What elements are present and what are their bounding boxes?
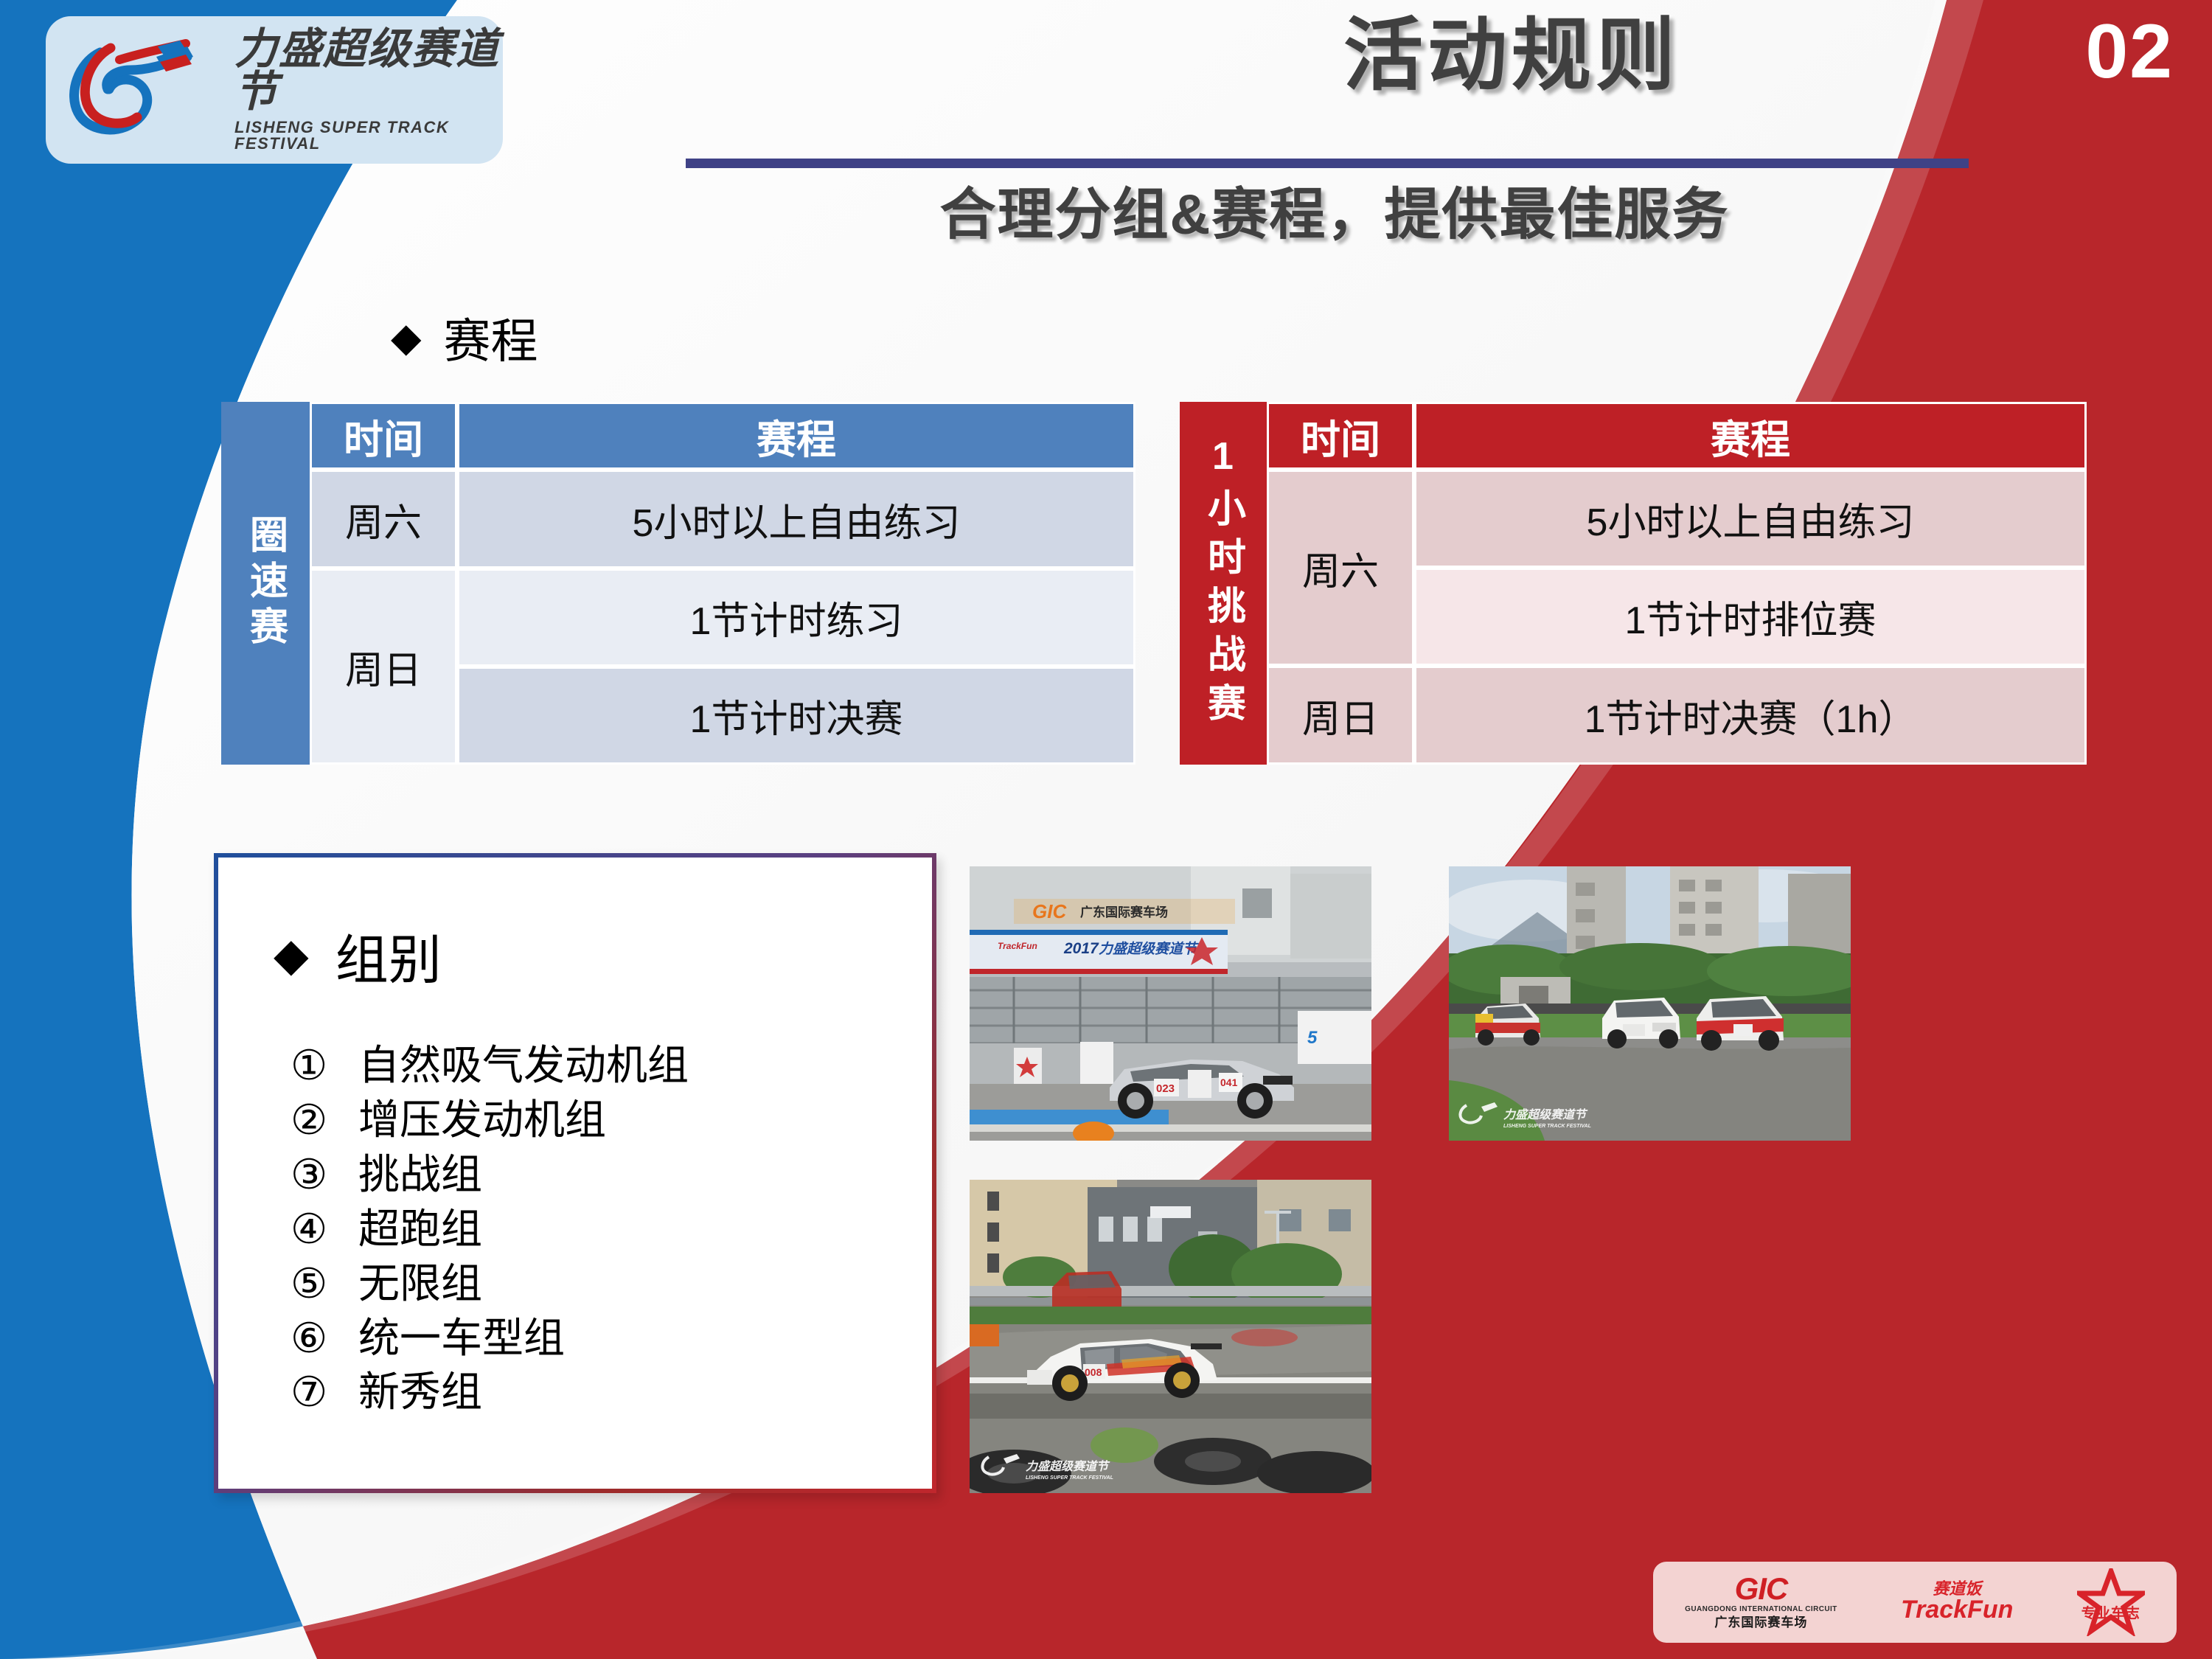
svg-text:008: 008 (1085, 1366, 1102, 1378)
list-item-number: ① (291, 1038, 358, 1093)
table-row: 周日 1节计时决赛（1h） (1267, 666, 2087, 765)
list-item-number: ⑤ (291, 1256, 358, 1311)
cell-schedule: 1节计时排位赛 (1414, 568, 2087, 666)
list-item: ⑦ 新秀组 (291, 1365, 910, 1419)
svg-text:041: 041 (1220, 1077, 1238, 1088)
page-title: 活动规则 (1246, 13, 1777, 97)
diamond-bullet-icon: ◆ (274, 933, 309, 978)
groups-heading-label: 组别 (335, 917, 442, 994)
photo-bmw-on-pitstraight: GIC 广东国际赛车场 2017 力盛超级赛道节 TrackFun (970, 866, 1371, 1141)
list-item-label: 挑战组 (358, 1147, 482, 1202)
table-row: 周日 1节计时练习 1节计时决赛 (310, 568, 1135, 765)
list-item: ⑥ 统一车型组 (291, 1311, 910, 1366)
schedule-section-heading: ◆ 赛程 (391, 304, 538, 372)
sponsor-gic-name-cn: 广东国际赛车场 (1714, 1615, 1807, 1631)
groups-list: ① 自然吸气发动机组 ② 增压发动机组 ③ 挑战组 ④ 超跑组 ⑤ 无限组 ⑥ … (291, 1038, 910, 1419)
lisheng-track-mark-icon (62, 27, 232, 153)
schedule-heading-label: 赛程 (444, 304, 538, 372)
sponsor-gic: GIC GUANGDONG INTERNATIONAL CIRCUIT 广东国际… (1685, 1573, 1837, 1631)
svg-text:力盛超级赛道节: 力盛超级赛道节 (1099, 941, 1199, 957)
table-row: 周六 5小时以上自由练习 1节计时排位赛 (1267, 470, 2087, 666)
sponsor-trackfun: 赛道饭 TrackFun (1901, 1581, 2013, 1624)
svg-text:TrackFun: TrackFun (998, 941, 1037, 951)
logo-name-en: LISHENG SUPER TRACK FESTIVAL (234, 119, 503, 152)
list-item: ① 自然吸气发动机组 (291, 1038, 910, 1093)
brand-logo: 力盛超级赛道节 LISHENG SUPER TRACK FESTIVAL (46, 16, 503, 164)
svg-text:力盛超级赛道节: 力盛超级赛道节 (1026, 1460, 1110, 1473)
table-header-row: 时间 赛程 (1267, 402, 2087, 470)
page-number: 02 (2085, 13, 2174, 90)
cell-schedule: 1节计时决赛 (457, 667, 1135, 765)
cell-schedule: 5小时以上自由练习 (1414, 470, 2087, 568)
cell-schedule: 1节计时练习 (457, 568, 1135, 667)
column-header-time: 时间 (1267, 402, 1414, 470)
one-hour-challenge-side-label: 1小时挑战赛 (1180, 402, 1267, 765)
list-item-number: ③ (291, 1147, 358, 1202)
photo-three-hatchbacks-on-track: 力盛超级赛道节 LISHENG SUPER TRACK FESTIVAL (1449, 866, 1851, 1141)
table-header-row: 时间 赛程 (310, 402, 1135, 470)
svg-text:GIC: GIC (1032, 900, 1067, 922)
sponsor-zhuanye-chezhi: 专业车志 (2077, 1568, 2145, 1636)
list-item-label: 超跑组 (358, 1202, 482, 1256)
list-item-number: ⑦ (291, 1365, 358, 1419)
list-item-number: ② (291, 1093, 358, 1147)
list-item-label: 统一车型组 (358, 1311, 565, 1366)
sponsor-trackfun-name-en: TrackFun (1901, 1597, 2013, 1624)
photo-white-sedan-cornering: 008 力盛超级赛道节 LISHENG SUPER TRACK FESTIVAL (970, 1180, 1371, 1493)
column-header-time: 时间 (310, 402, 457, 470)
logo-name-cn: 力盛超级赛道节 (234, 28, 503, 114)
one-hour-challenge-table-body: 时间 赛程 周六 5小时以上自由练习 1节计时排位赛 周日 1节计时决赛（1h） (1267, 402, 2087, 765)
sponsor-trackfun-name-cn: 赛道饭 (1933, 1581, 1981, 1597)
svg-text:力盛超级赛道节: 力盛超级赛道节 (1503, 1108, 1588, 1121)
svg-text:LISHENG SUPER TRACK FESTIVAL: LISHENG SUPER TRACK FESTIVAL (1503, 1124, 1591, 1129)
svg-text:023: 023 (1156, 1082, 1175, 1095)
cell-day: 周日 (1267, 666, 1414, 765)
list-item-label: 新秀组 (358, 1365, 482, 1419)
sponsor-gic-name-en: GUANGDONG INTERNATIONAL CIRCUIT (1685, 1604, 1837, 1615)
sponsor-zhuanye-chezhi-label: 专业车志 (2077, 1602, 2145, 1622)
column-header-schedule: 赛程 (457, 402, 1135, 470)
list-item-number: ⑥ (291, 1311, 358, 1366)
list-item-label: 无限组 (358, 1256, 482, 1311)
list-item-number: ④ (291, 1202, 358, 1256)
lap-race-table-body: 时间 赛程 周六 5小时以上自由练习 周日 1节计时练习 1节计时决赛 (310, 402, 1135, 765)
column-header-schedule: 赛程 (1414, 402, 2087, 470)
list-item-label: 增压发动机组 (358, 1093, 606, 1147)
cell-day: 周日 (310, 568, 457, 765)
cell-schedule: 5小时以上自由练习 (457, 470, 1135, 568)
cell-schedule: 1节计时决赛（1h） (1414, 666, 2087, 765)
table-row: 周六 5小时以上自由练习 (310, 470, 1135, 568)
list-item: ③ 挑战组 (291, 1147, 910, 1202)
groups-heading: ◆ 组别 (274, 917, 442, 994)
lap-race-schedule-table: 圈速赛 时间 赛程 周六 5小时以上自由练习 周日 1节计时练习 1节计时决赛 (221, 402, 1135, 765)
lap-race-side-label: 圈速赛 (221, 402, 310, 765)
star-icon: 专业车志 (2077, 1568, 2145, 1636)
logo-wordmark: 力盛超级赛道节 LISHENG SUPER TRACK FESTIVAL (234, 28, 503, 152)
svg-text:广东国际赛车场: 广东国际赛车场 (1080, 905, 1168, 919)
cell-day: 周六 (1267, 470, 1414, 666)
sponsor-gic-logo-icon: GIC (1735, 1573, 1788, 1604)
title-divider (686, 159, 1969, 168)
list-item: ⑤ 无限组 (291, 1256, 910, 1311)
cell-day: 周六 (310, 470, 457, 568)
svg-text:2017: 2017 (1063, 940, 1099, 957)
list-item: ② 增压发动机组 (291, 1093, 910, 1147)
groups-panel: ◆ 组别 ① 自然吸气发动机组 ② 增压发动机组 ③ 挑战组 ④ 超跑组 ⑤ 无… (214, 853, 936, 1493)
one-hour-challenge-schedule-table: 1小时挑战赛 时间 赛程 周六 5小时以上自由练习 1节计时排位赛 周日 1节计… (1180, 402, 2087, 765)
diamond-bullet-icon: ◆ (391, 318, 422, 358)
svg-text:5: 5 (1307, 1028, 1318, 1048)
list-item: ④ 超跑组 (291, 1202, 910, 1256)
slide-root: 力盛超级赛道节 LISHENG SUPER TRACK FESTIVAL 活动规… (0, 0, 2212, 1659)
page-subtitle: 合理分组&赛程，提供最佳服务 (737, 183, 1932, 247)
sponsor-bar: GIC GUANGDONG INTERNATIONAL CIRCUIT 广东国际… (1653, 1562, 2177, 1643)
list-item-label: 自然吸气发动机组 (358, 1038, 689, 1093)
svg-text:LISHENG SUPER TRACK FESTIVAL: LISHENG SUPER TRACK FESTIVAL (1026, 1475, 1113, 1481)
